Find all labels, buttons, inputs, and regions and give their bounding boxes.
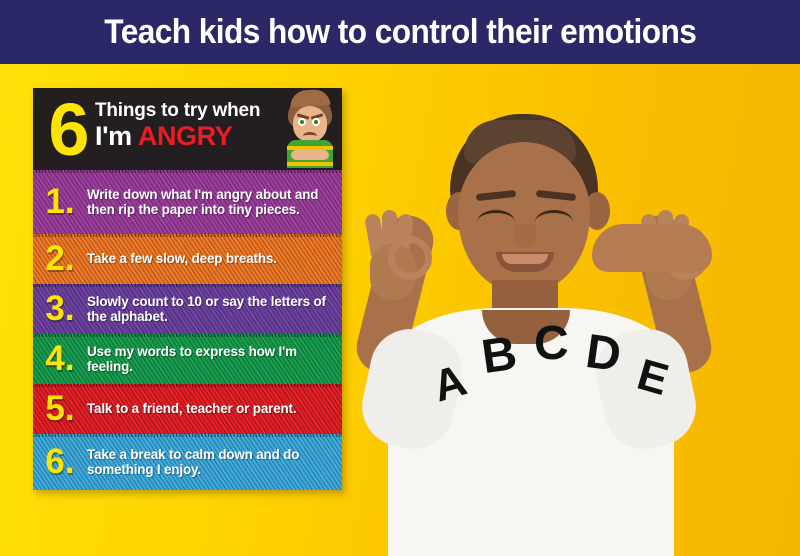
headline-line-2: I'm ANGRY — [95, 122, 277, 151]
tip-text: Write down what I'm angry about and then… — [87, 187, 342, 218]
poster-tip-row: 1.Write down what I'm angry about and th… — [33, 170, 342, 234]
poster-tips-list: 1.Write down what I'm angry about and th… — [33, 170, 342, 490]
meditating-boy-photo: A B C D E — [330, 64, 800, 556]
row-top-edge — [33, 384, 342, 387]
poster-header: 6 Things to try when I'm ANGRY — [33, 88, 342, 170]
row-top-edge — [33, 170, 342, 173]
tip-number: 6. — [33, 444, 87, 480]
tip-number: 5. — [33, 391, 87, 427]
poster-image: Teach kids how to control their emotions — [0, 0, 800, 556]
tip-text: Slowly count to 10 or say the letters of… — [87, 294, 342, 325]
poster-headline: Things to try when I'm ANGRY — [95, 100, 277, 151]
tip-number: 1. — [33, 184, 87, 220]
headline-im: I'm — [95, 121, 132, 151]
headline-angry: ANGRY — [138, 121, 233, 151]
nose — [514, 224, 536, 248]
left-hand-mudra-icon — [362, 214, 424, 300]
poster-tip-row: 5.Talk to a friend, teacher or parent. — [33, 384, 342, 434]
row-top-edge — [33, 234, 342, 237]
shirt-letter-b: B — [479, 330, 520, 382]
tip-number: 4. — [33, 341, 87, 377]
poster-tip-row: 6.Take a break to calm down and do somet… — [33, 434, 342, 490]
tip-text: Use my words to express how I'm feeling. — [87, 344, 342, 375]
tip-text: Take a break to calm down and do somethi… — [87, 447, 342, 478]
tip-number: 3. — [33, 291, 87, 327]
headline-line-1: Things to try when — [95, 100, 277, 121]
tip-text: Talk to a friend, teacher or parent. — [87, 401, 306, 416]
row-top-edge — [33, 334, 342, 337]
tip-text: Take a few slow, deep breaths. — [87, 251, 287, 266]
poster-tip-row: 2.Take a few slow, deep breaths. — [33, 234, 342, 284]
shirt-letter-c: C — [534, 320, 569, 368]
poster-tip-row: 3.Slowly count to 10 or say the letters … — [33, 284, 342, 334]
page-title: Teach kids how to control their emotions — [104, 15, 696, 49]
poster-tip-row: 4.Use my words to express how I'm feelin… — [33, 334, 342, 384]
row-top-edge — [33, 284, 342, 287]
tip-number: 2. — [33, 241, 87, 277]
banner-header: Teach kids how to control their emotions — [0, 0, 800, 64]
angry-management-poster: 6 Things to try when I'm ANGRY — [33, 88, 342, 490]
poster-number-six: 6 — [41, 92, 97, 168]
angry-boy-icon — [282, 94, 338, 168]
row-top-edge — [33, 434, 342, 437]
shirt-letter-d: D — [583, 328, 624, 380]
